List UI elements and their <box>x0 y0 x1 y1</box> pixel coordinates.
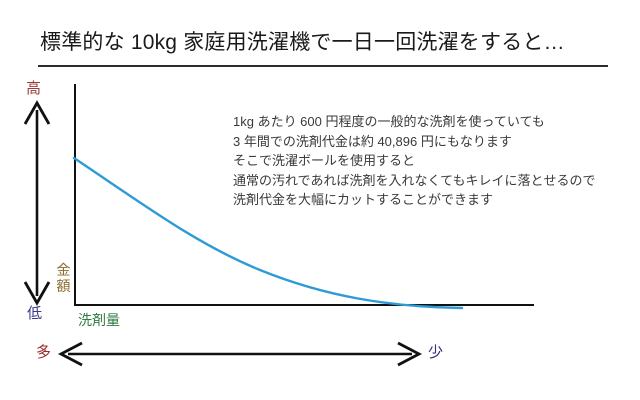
body-line-1: 1kg あたり 600 円程度の一般的な洗剤を使っていても <box>233 112 633 132</box>
y-axis-title-char-1: 金 <box>55 262 72 278</box>
x-axis-many-label: 多 <box>36 344 51 361</box>
slide-canvas: 標準的な 10kg 家庭用洗濯機で一日一回洗濯をすると… 高 低 多 少 金 額… <box>0 0 640 400</box>
title-underline-divider <box>38 65 608 67</box>
body-line-3: そこで洗濯ボールを使用すると <box>233 151 633 171</box>
body-line-5: 洗剤代金を大幅にカットすることができます <box>233 190 633 210</box>
y-axis-high-label: 高 <box>26 80 41 97</box>
y-axis-title-char-2: 額 <box>55 278 72 294</box>
y-axis-title: 金 額 <box>55 262 72 294</box>
body-line-4: 通常の汚れであれば洗剤を入れなくてもキレイに落とせるので <box>233 171 633 191</box>
page-title: 標準的な 10kg 家庭用洗濯機で一日一回洗濯をすると… <box>40 28 615 58</box>
x-axis-few-label: 少 <box>428 344 443 361</box>
horizontal-double-arrow-icon <box>56 341 424 367</box>
body-paragraph: 1kg あたり 600 円程度の一般的な洗剤を使っていても 3 年間での洗剤代金… <box>233 112 633 210</box>
body-line-2: 3 年間での洗剤代金は約 40,896 円にもなります <box>233 132 633 152</box>
y-axis-low-label: 低 <box>27 305 42 322</box>
vertical-double-arrow-icon <box>18 98 56 308</box>
x-axis-title: 洗剤量 <box>78 312 120 329</box>
